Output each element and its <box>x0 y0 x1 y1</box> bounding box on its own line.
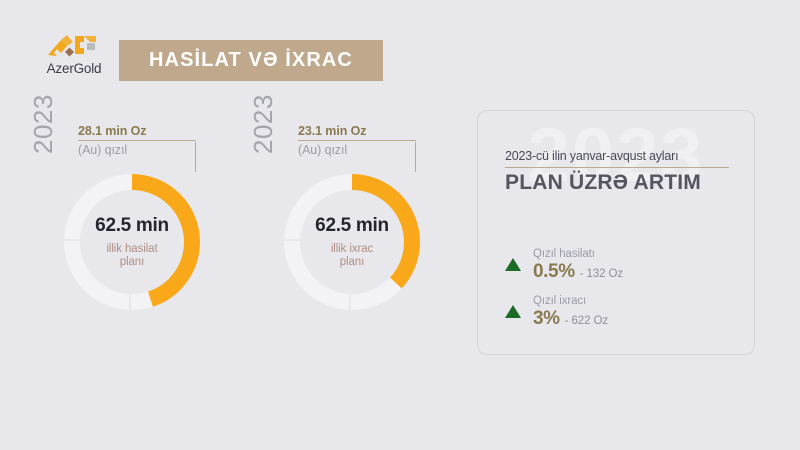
brand-name: AzerGold <box>36 61 112 76</box>
donut-caption-line1: illik hasilat <box>106 243 157 255</box>
stat-figures: 3% - 622 Oz <box>533 308 735 330</box>
donut-caption-line1: illik ixrac <box>331 243 373 255</box>
donut-chart-ixrac: 62.5 min illik ixrac planı <box>276 166 428 318</box>
stat-percent: 0.5% <box>533 261 575 283</box>
donut-center-labels: 62.5 min illik ixrac planı <box>276 166 428 318</box>
triangle-up-icon <box>505 258 521 271</box>
azergold-chevron-logo-icon <box>46 33 102 59</box>
stat-amount: - 132 Oz <box>580 268 623 280</box>
donut-center-caption: illik ixrac planı <box>331 243 373 269</box>
triangle-up-icon <box>505 305 521 318</box>
donut-center-value: 62.5 min <box>315 215 389 237</box>
stat-figures: 0.5% - 132 Oz <box>533 261 735 283</box>
donut-year-label: 2023 <box>28 94 52 154</box>
page-title: HASİLAT VƏ İXRAC <box>149 49 353 72</box>
donut-callout-value: 23.1 min Oz <box>298 124 416 141</box>
donut-center-caption: illik hasilat planı <box>106 243 157 269</box>
donut-callout: 23.1 min Oz (Au) qızıl <box>298 124 416 157</box>
growth-summary-card: 2023 2023-cü ilin yanvar-avqust ayları P… <box>477 110 755 355</box>
donut-center-value: 62.5 min <box>95 215 169 237</box>
donut-year-label: 2023 <box>248 94 272 154</box>
stat-percent: 3% <box>533 308 560 330</box>
donut-callout-sub: (Au) qızıl <box>78 141 196 157</box>
title-banner: HASİLAT VƏ İXRAC <box>119 40 383 81</box>
stat-amount: - 622 Oz <box>565 315 608 327</box>
brand-logo: AzerGold <box>36 33 112 85</box>
donut-center-labels: 62.5 min illik hasilat planı <box>56 166 208 318</box>
stat-row: Qızıl hasilatı 0.5% - 132 Oz <box>505 248 735 283</box>
card-subtitle: 2023-cü ilin yanvar-avqust ayları <box>505 149 729 168</box>
donut-caption-line2: planı <box>340 256 364 268</box>
donut-callout: 28.1 min Oz (Au) qızıl <box>78 124 196 157</box>
donut-chart-hasilat: 62.5 min illik hasilat planı <box>56 166 208 318</box>
donut-callout-value: 28.1 min Oz <box>78 124 196 141</box>
stat-label: Qızıl hasilatı <box>533 248 735 260</box>
donut-callout-sub: (Au) qızıl <box>298 141 416 157</box>
stat-label: Qızıl ixracı <box>533 295 735 307</box>
card-heading: PLAN ÜZRƏ ARTIM <box>505 171 701 195</box>
stat-row: Qızıl ixracı 3% - 622 Oz <box>505 295 735 330</box>
donut-caption-line2: planı <box>120 256 144 268</box>
infographic-slide: AzerGold HASİLAT VƏ İXRAC 2023 28.1 min … <box>0 0 800 450</box>
